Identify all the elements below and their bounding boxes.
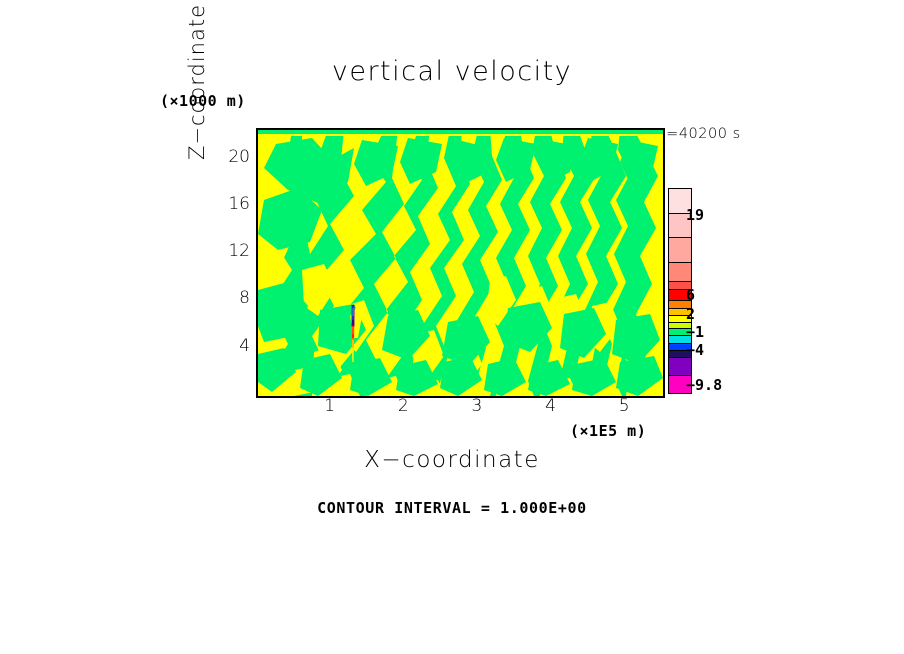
colorbar-label: −1 — [686, 323, 704, 341]
x-tick-4: 4 — [536, 396, 566, 416]
colorbar-labels: 1962−1−4−9.8 — [686, 188, 756, 394]
time-annotation: t=40200 s — [660, 126, 741, 142]
vertical-velocity-field — [258, 130, 663, 396]
x-tick-3: 3 — [462, 396, 492, 416]
colorbar-label: −9.8 — [686, 376, 722, 394]
colorbar-label: −4 — [686, 341, 704, 359]
x-tick-2: 2 — [388, 396, 418, 416]
contour-plot — [256, 128, 665, 398]
y-tick-12: 12 — [210, 241, 250, 261]
y-axis-ticks: 48121620 — [210, 128, 250, 394]
y-tick-8: 8 — [210, 288, 250, 308]
colorbar-label: 2 — [686, 305, 695, 323]
x-tick-1: 1 — [315, 396, 345, 416]
colorbar-label: 6 — [686, 286, 695, 304]
y-tick-4: 4 — [210, 336, 250, 356]
y-axis-title: Z−coordinate — [185, 0, 209, 172]
y-tick-16: 16 — [210, 194, 250, 214]
x-tick-5: 5 — [609, 396, 639, 416]
x-axis-title: X−coordinate — [0, 447, 904, 473]
colorbar-label: 19 — [686, 206, 704, 224]
x-axis-ticks: 12345 — [256, 396, 661, 424]
contour-interval-caption: CONTOUR INTERVAL = 1.000E+00 — [0, 499, 904, 517]
page-title: vertical velocity — [0, 56, 904, 87]
x-axis-unit-label: (×1E5 m) — [570, 422, 646, 440]
y-tick-20: 20 — [210, 147, 250, 167]
